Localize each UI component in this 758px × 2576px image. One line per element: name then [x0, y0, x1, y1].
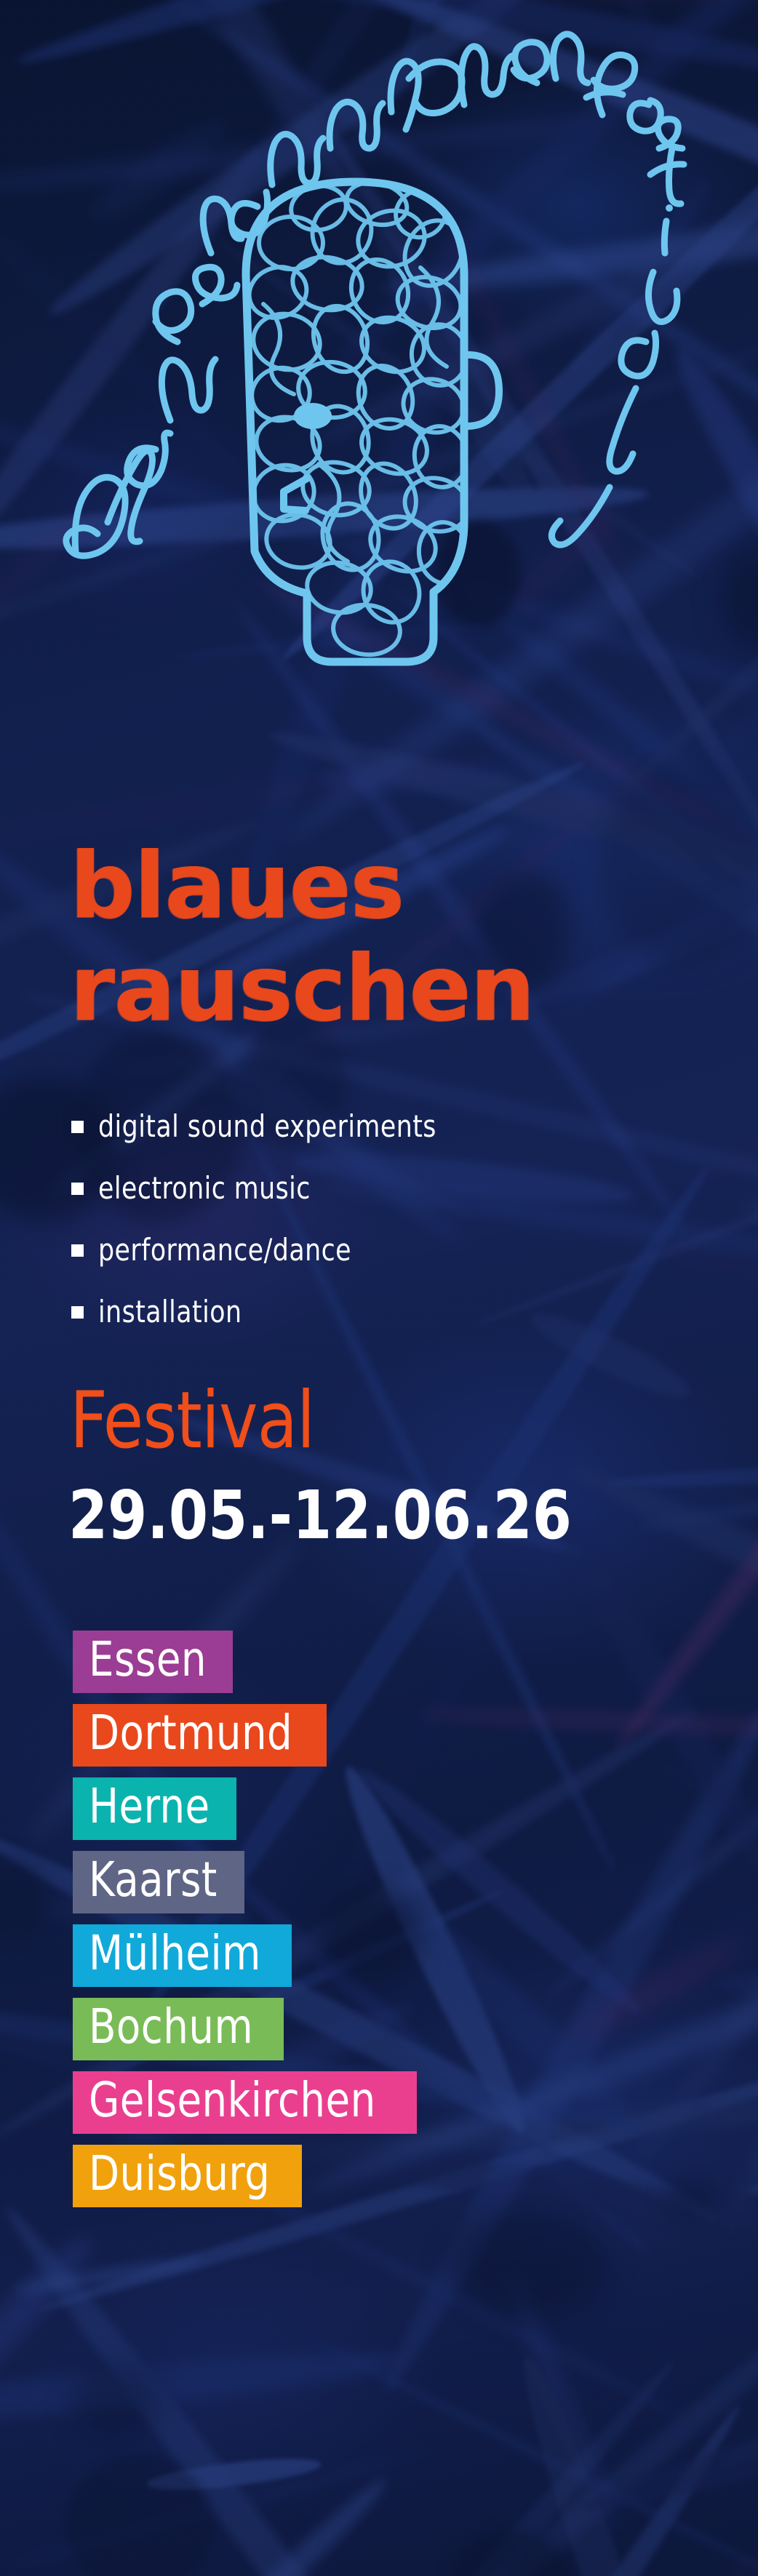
city-badge-gelsenkirchen[interactable]: Gelsenkirchen [73, 2071, 417, 2134]
city-badge-list: EssenDortmundHerneKaarstMülheimBochumGel… [73, 1631, 727, 2218]
festival-poster: blaues rauschen digital sound experiment… [0, 0, 758, 2576]
city-badge-kaarst[interactable]: Kaarst [73, 1851, 244, 1913]
wordmark: blaues rauschen [70, 842, 725, 1033]
city-badge-label: Mülheim [89, 1929, 261, 1977]
city-badge-label: Kaarst [89, 1856, 218, 1904]
square-bullet-icon [71, 1306, 84, 1319]
festival-dates: 29.05.-12.06.26 [68, 1482, 572, 1549]
wordmark-line-1: blaues [70, 842, 725, 932]
festival-heading: Festival [70, 1382, 314, 1460]
city-badge-label: Herne [89, 1783, 210, 1831]
square-bullet-icon [71, 1121, 84, 1133]
feature-label: digital sound experiments [98, 1111, 436, 1142]
feature-label: performance/dance [98, 1235, 351, 1265]
city-badge-essen[interactable]: Essen [73, 1631, 233, 1693]
list-item: performance/dance [71, 1233, 697, 1268]
feature-list: digital sound experiments electronic mus… [71, 1109, 697, 1329]
list-item: installation [71, 1295, 697, 1329]
square-bullet-icon [71, 1244, 84, 1257]
list-item: digital sound experiments [71, 1109, 697, 1144]
city-badge-label: Duisburg [89, 2150, 270, 2198]
festival-logo-mark [28, 13, 719, 740]
list-item: electronic music [71, 1171, 697, 1206]
city-badge-dortmund[interactable]: Dortmund [73, 1704, 327, 1767]
feature-label: electronic music [98, 1173, 311, 1204]
city-badge-bochum[interactable]: Bochum [73, 1998, 284, 2060]
city-badge-label: Gelsenkirchen [89, 2076, 376, 2124]
city-badge-label: Bochum [89, 2003, 253, 2051]
city-badge-duisburg[interactable]: Duisburg [73, 2145, 302, 2207]
city-badge-label: Dortmund [89, 1709, 292, 1757]
city-badge-label: Essen [89, 1636, 207, 1684]
square-bullet-icon [71, 1183, 84, 1195]
feature-label: installation [98, 1297, 242, 1327]
city-badge-herne[interactable]: Herne [73, 1777, 236, 1840]
city-badge-mlheim[interactable]: Mülheim [73, 1924, 292, 1987]
wordmark-line-2: rauschen [70, 945, 725, 1034]
